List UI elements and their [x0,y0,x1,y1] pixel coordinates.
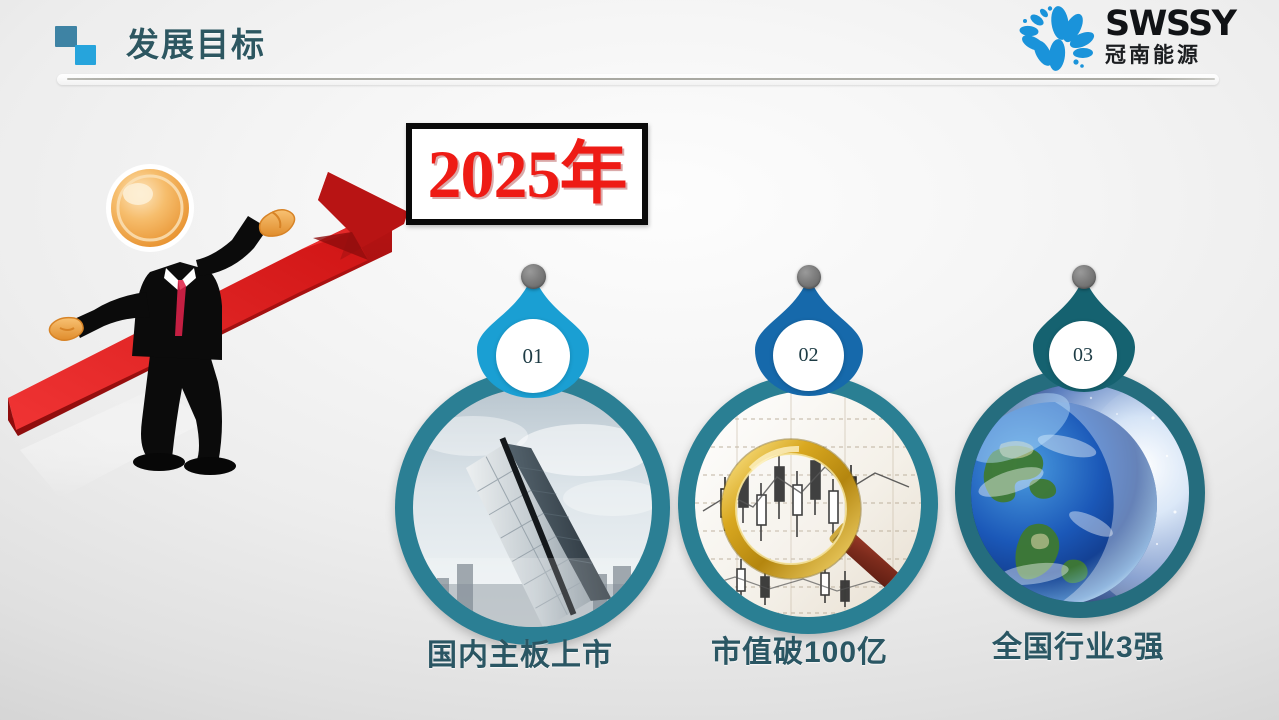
goal-photo-02 [695,391,921,617]
goal-pin-02 [797,265,821,289]
goal-caption-01: 国内主板上市 [427,630,613,674]
businessman-arrow-illustration [0,120,420,520]
goal-number-03: 03 [1073,344,1093,367]
logo-brand-text: SWSSY [1105,6,1236,42]
skyscraper-blueprint-image [413,388,652,627]
logo-wordmark: SWSSY 冠南能源 [1105,6,1236,67]
goal-number-badge-01: 01 [496,319,570,393]
slide-root: 发展目标 [0,0,1279,720]
decor-square-small [75,45,96,65]
goal-ring-02 [678,374,938,634]
earth-globe-image [971,384,1189,602]
decor-square-large [55,26,77,47]
header-decor-squares [55,26,101,66]
page-title: 发展目标 [126,18,266,66]
goal-photo-01 [413,388,652,627]
logo-flower-icon [1013,4,1099,74]
goal-number-badge-03: 03 [1049,321,1117,389]
logo-chinese-text: 冠南能源 [1105,45,1236,67]
goal-ring-03 [955,368,1205,618]
goal-pin-03 [1072,265,1096,289]
goal-number-badge-02: 02 [773,320,844,391]
goal-caption-02: 市值破100亿 [711,627,888,671]
year-badge: 2025年 [406,123,648,225]
goal-photo-03 [971,384,1189,602]
company-logo: SWSSY 冠南能源 [1013,4,1265,76]
year-text: 2025年 [427,139,626,209]
goal-number-01: 01 [523,344,544,369]
magnifier-stock-chart-image [695,391,921,617]
goal-number-02: 02 [799,344,819,367]
goal-ring-01 [395,370,670,645]
goal-caption-03: 全国行业3强 [992,622,1165,666]
goal-pin-01 [521,264,546,289]
